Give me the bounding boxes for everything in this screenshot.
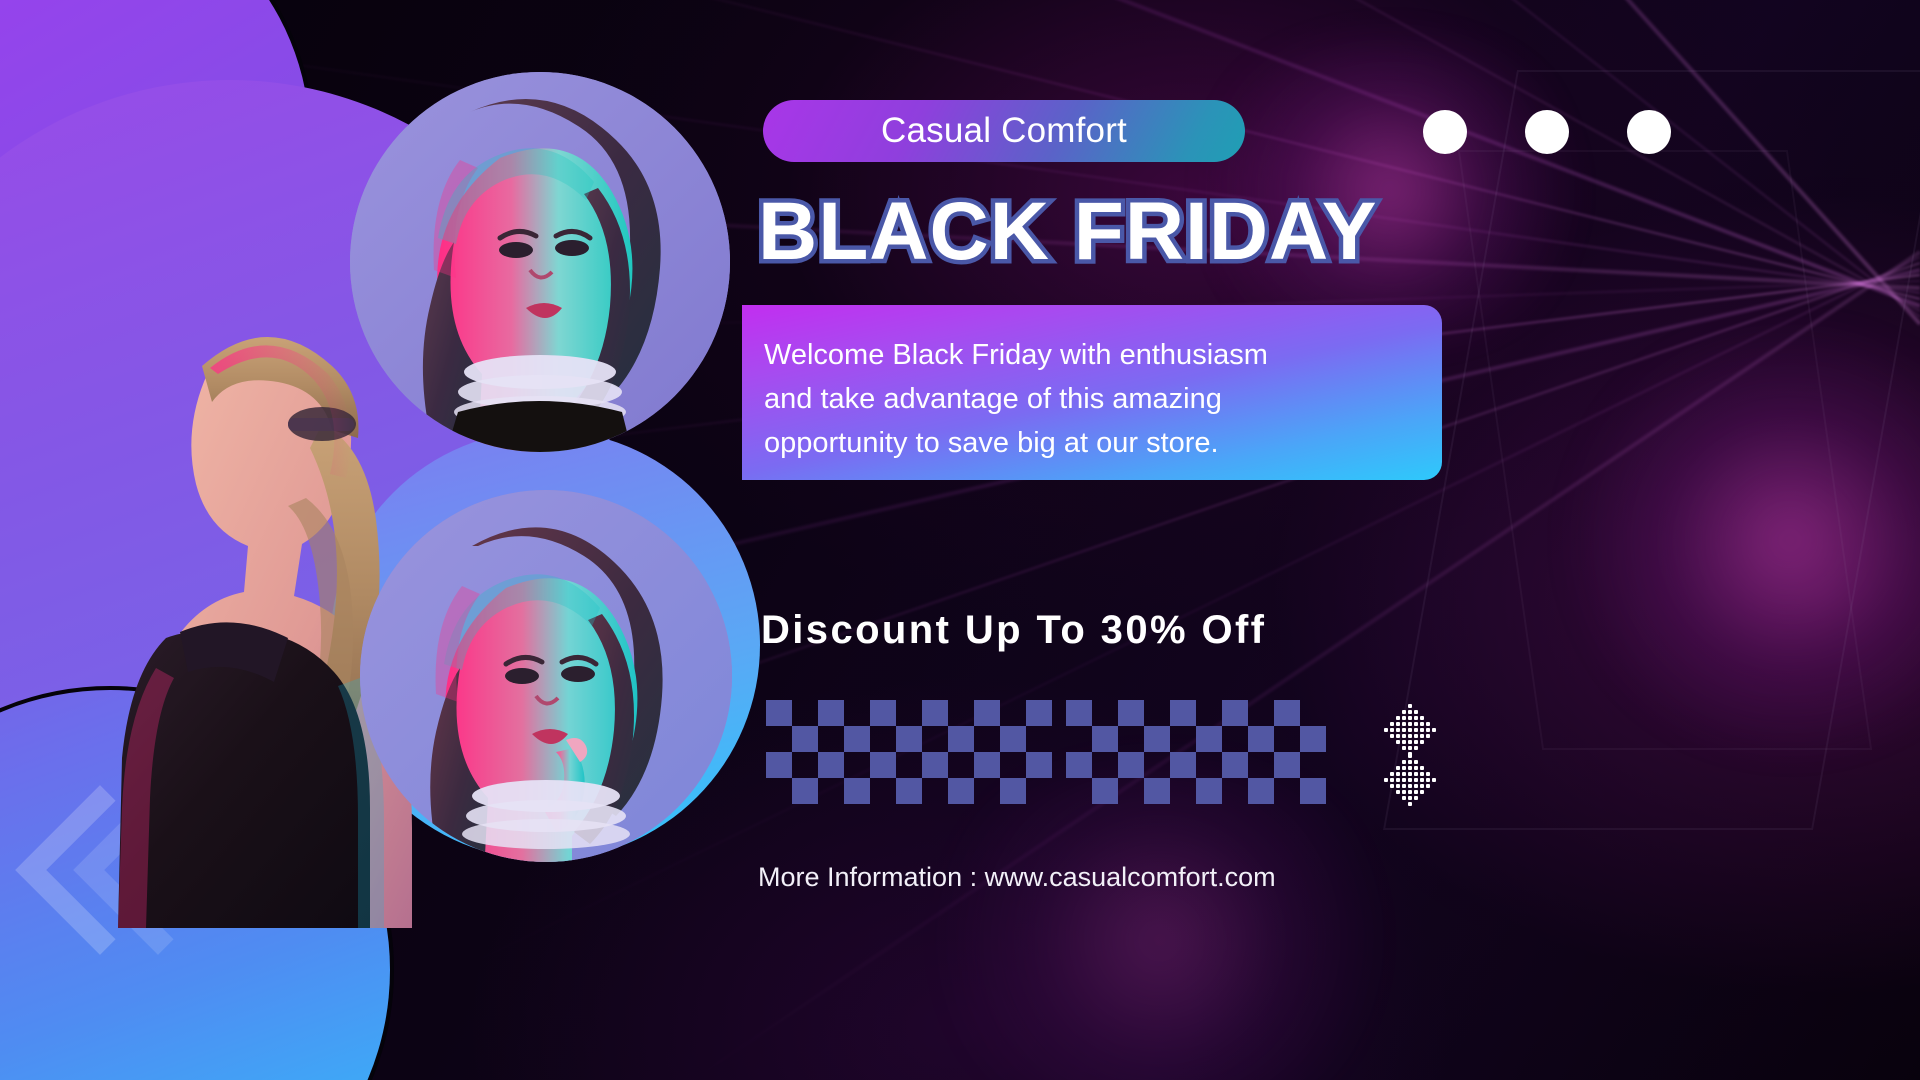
ornament-dot [1420,778,1424,782]
ornament-dot [1396,716,1400,720]
ornament-dot [1420,716,1424,720]
ornament-dot [1396,790,1400,794]
ornament-dot [1414,734,1418,738]
checker-square [1248,778,1274,804]
checker-square [1066,700,1092,726]
ornament-dot [1420,728,1424,732]
ornament-dot [1426,772,1430,776]
page-title: BLACK FRIDAY [758,186,1448,278]
ornament-dot [1408,784,1412,788]
checker-square [1170,700,1196,726]
ornament-dot [1402,734,1406,738]
ornament-dot [1408,740,1412,744]
ornament-dot [1396,734,1400,738]
checker-square [1196,726,1222,752]
checker-square [792,778,818,804]
ornament-dot [1426,784,1430,788]
checker-square [896,726,922,752]
ornament-dot [1396,722,1400,726]
checker-square [1144,778,1170,804]
content-column: Casual Comfort BLACK FRIDAY Welcome Blac… [758,0,1920,1080]
ornament-dot [1408,716,1412,720]
ornament-dot [1426,722,1430,726]
ornament-dot [1426,734,1430,738]
ornament-dot [1420,790,1424,794]
ornament-dot [1408,710,1412,714]
checker-square [870,752,896,778]
ornament-dot [1384,728,1388,732]
checker-square [1092,778,1118,804]
fashion-model-neon-portrait-top [350,72,730,452]
ornament-dot [1402,710,1406,714]
checker-square [948,726,974,752]
checkerboard-pattern-right [1066,700,1316,810]
checker-square [766,752,792,778]
ornament-dot [1402,778,1406,782]
ornament-dot [1390,778,1394,782]
ornament-dot [1414,728,1418,732]
ornament-dot [1426,728,1430,732]
ornament-dot [1432,778,1436,782]
ornament-dot [1408,802,1412,806]
ornament-dot [1390,722,1394,726]
checker-square [1092,726,1118,752]
decorative-dots-group [1423,110,1683,154]
ornament-dot [1420,772,1424,776]
ornament-dot [1408,722,1412,726]
checker-square [1144,726,1170,752]
checker-square [818,700,844,726]
ornament-dot [1420,722,1424,726]
ornament-dot [1420,734,1424,738]
checker-square [1274,752,1300,778]
brand-badge[interactable]: Casual Comfort [763,100,1245,162]
black-friday-promo-banner: Casual Comfort BLACK FRIDAY Welcome Blac… [0,0,1920,1080]
ornament-dot [1408,778,1412,782]
model-photo-bottom [360,490,732,862]
ornament-dot [1402,746,1406,750]
ornament-dot [1414,760,1418,764]
checker-square [1066,752,1092,778]
ornament-dot [1384,778,1388,782]
checker-square [1026,752,1052,778]
ornament-dot [1414,710,1418,714]
checker-square [844,726,870,752]
ornament-dot [1402,722,1406,726]
ornament-dot [1408,796,1412,800]
checker-square [1300,726,1326,752]
ornament-dot [1408,790,1412,794]
checker-square [1222,700,1248,726]
checker-square [1170,752,1196,778]
ornament-dot [1402,728,1406,732]
ornament-dot [1414,766,1418,770]
diamond-dot-ornament [1368,700,1448,810]
ornament-dot [1402,790,1406,794]
ornament-dot [1420,766,1424,770]
ornament-dot [1426,778,1430,782]
ornament-dot [1408,760,1412,764]
ornament-dot [1396,772,1400,776]
checker-square [766,700,792,726]
ornament-dot [1408,754,1412,758]
ornament-dot [1396,728,1400,732]
ornament-dot [1420,784,1424,788]
ornament-dot [1396,778,1400,782]
ornament-dot [1402,716,1406,720]
ornament-dot [1402,766,1406,770]
checker-square [948,778,974,804]
ornament-dot [1402,784,1406,788]
checker-square [974,700,1000,726]
ornament-dot [1414,796,1418,800]
ornament-dot [1396,766,1400,770]
ornament-dot [1420,740,1424,744]
footer-contact-info[interactable]: More Information : www.casualcomfort.com [758,862,1458,893]
circle-dot-icon [1423,110,1467,154]
ornament-dot [1414,772,1418,776]
ornament-dot [1408,728,1412,732]
checker-square [896,778,922,804]
circle-dot-icon [1525,110,1569,154]
ornament-dot [1414,746,1418,750]
checker-square [1274,700,1300,726]
ornament-dot [1396,740,1400,744]
description-text: Welcome Black Friday with enthusiasm and… [764,333,1384,465]
checker-square [870,700,896,726]
chevron-arrow-icon [0,0,19,133]
ornament-dot [1402,796,1406,800]
checker-square [1118,752,1144,778]
description-panel: Welcome Black Friday with enthusiasm and… [742,305,1442,480]
ornament-dot [1402,740,1406,744]
checker-square [1300,778,1326,804]
ornament-dot [1396,784,1400,788]
ornament-dot [1414,784,1418,788]
checker-square [922,752,948,778]
checker-square [1000,778,1026,804]
ornament-dot [1402,772,1406,776]
ornament-dot [1414,716,1418,720]
checker-square [844,778,870,804]
checker-square [922,700,948,726]
checker-square [1222,752,1248,778]
ornament-dot [1414,790,1418,794]
discount-headline: Discount Up To 30% Off [761,608,1461,653]
checker-square [974,752,1000,778]
ornament-dot [1414,778,1418,782]
fashion-model-neon-portrait-bottom [360,490,732,862]
checker-square [1196,778,1222,804]
checker-square [1000,726,1026,752]
checker-square [818,752,844,778]
circle-dot-icon [1627,110,1671,154]
checker-square [1248,726,1274,752]
checker-square [792,726,818,752]
ornament-dot [1390,734,1394,738]
ornament-dot [1414,722,1418,726]
ornament-dot [1390,772,1394,776]
ornament-dot [1402,760,1406,764]
ornament-dot [1390,728,1394,732]
ornament-dot [1408,734,1412,738]
checkerboard-pattern-left [766,700,1066,810]
brand-badge-label: Casual Comfort [881,111,1127,151]
ornament-dot [1408,766,1412,770]
ornament-dot [1432,728,1436,732]
checker-square [1118,700,1144,726]
ornament-dot [1408,704,1412,708]
ornament-dot [1414,740,1418,744]
ornament-dot [1390,784,1394,788]
checker-square [1026,700,1052,726]
model-photo-top [350,72,730,452]
ornament-dot [1408,746,1412,750]
ornament-dot [1408,772,1412,776]
